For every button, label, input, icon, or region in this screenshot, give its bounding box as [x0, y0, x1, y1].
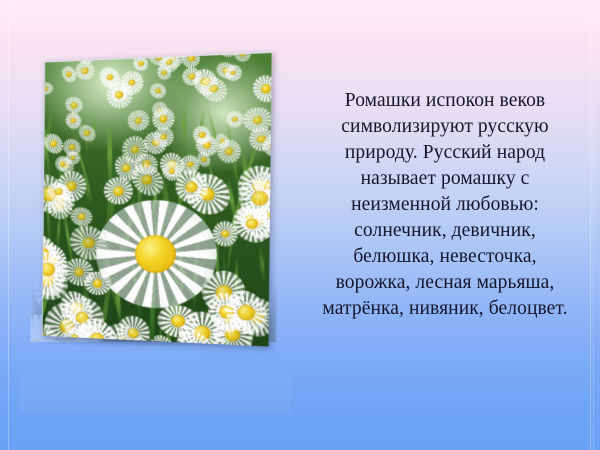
- hero-daisy-core: [135, 235, 176, 274]
- daisy-core: [200, 77, 210, 86]
- daisy-cluster: [45, 53, 271, 62]
- background-streak-right: [590, 0, 591, 450]
- daisy-petals: [258, 131, 272, 162]
- daisy-core: [223, 68, 230, 74]
- daisy-core: [198, 132, 205, 138]
- grass-blade: [223, 182, 248, 252]
- daisy-petals: [213, 305, 242, 334]
- daisy-petals: [226, 198, 272, 250]
- daisy-core: [224, 147, 233, 155]
- daisy-petals: [246, 123, 272, 155]
- daisy-petals: [212, 131, 231, 151]
- daisy-core: [168, 52, 173, 53]
- daisy-core: [224, 52, 231, 53]
- body-text-line: символизируют русскую: [300, 114, 590, 140]
- daisy-core: [166, 59, 173, 66]
- daisy-core: [188, 55, 195, 62]
- daisy-petals: [178, 52, 204, 71]
- grass-blade: [224, 110, 242, 198]
- daisy-core: [232, 116, 238, 121]
- daisy-core: [157, 343, 166, 347]
- daisy-core: [252, 179, 267, 192]
- grass-blade: [241, 145, 250, 199]
- daisy-petals: [159, 158, 186, 186]
- background-streak-right-secondary: [593, 0, 594, 450]
- grass-blade: [235, 255, 239, 307]
- body-text-line: матрёнка, нивяник, белоцвет.: [300, 296, 590, 322]
- daisy-petals: [189, 64, 223, 100]
- daisy-petals: [231, 52, 254, 65]
- daisy-petals: [160, 52, 182, 61]
- daisy-core: [202, 142, 210, 149]
- daisy-core: [263, 181, 272, 189]
- grass-blade: [152, 215, 164, 263]
- grass-blade: [233, 312, 259, 346]
- daisy-core: [85, 54, 90, 59]
- daisy-core: [141, 174, 153, 185]
- daisy-petals: [251, 173, 271, 216]
- daisy-field-photo[interactable]: [42, 52, 272, 347]
- grass-blade: [172, 241, 185, 347]
- grass-blade: [205, 303, 221, 346]
- grass-blade: [181, 262, 197, 304]
- daisy-core: [250, 311, 264, 323]
- daisy-core: [189, 73, 196, 79]
- grass-blade: [166, 233, 179, 288]
- daisy-petals: [232, 201, 266, 234]
- grass-blade: [158, 318, 162, 347]
- body-text-line: природу. Русский народ: [300, 140, 590, 166]
- grass-blade: [152, 170, 160, 222]
- daisy-core: [69, 144, 75, 150]
- daisy-core: [225, 327, 240, 341]
- daisy-core: [252, 191, 268, 205]
- daisy-core: [160, 133, 167, 139]
- daisy-petals: [236, 165, 271, 208]
- daisy-core: [210, 85, 219, 93]
- daisy-petals: [179, 64, 205, 89]
- daisy-core: [267, 210, 272, 220]
- daisy-core: [167, 160, 177, 169]
- grass-blade: [225, 211, 237, 277]
- daisy-core: [159, 115, 168, 123]
- daisy-core: [253, 116, 262, 124]
- daisy-core: [185, 182, 197, 193]
- body-text-line: неизменной любовью:: [300, 192, 590, 218]
- daisy-petals: [233, 194, 272, 246]
- daisy-petals: [155, 52, 184, 77]
- daisy-core: [257, 135, 266, 143]
- daisy-core: [83, 238, 95, 249]
- body-text-line: Ромашки испокон веков: [300, 88, 590, 114]
- daisy-core: [219, 139, 224, 144]
- grass-blade: [192, 111, 198, 201]
- grass-blade: [216, 211, 219, 322]
- daisy-core: [162, 70, 168, 75]
- body-text-line: солнечник, девичник,: [300, 218, 590, 244]
- daisy-core: [71, 335, 79, 343]
- grass-blade: [174, 247, 188, 347]
- daisy-core: [219, 305, 234, 319]
- daisy-core: [201, 157, 207, 162]
- body-text-line: называет ромашку с: [300, 166, 590, 192]
- daisy-petals: [208, 216, 243, 251]
- daisy-petals: [253, 194, 272, 235]
- daisy-petals: [180, 154, 201, 174]
- daisy-core: [223, 316, 231, 324]
- daisy-core: [155, 53, 162, 60]
- grass-blade: [177, 242, 185, 290]
- daisy-core: [155, 88, 161, 93]
- daisy-petals: [222, 62, 244, 83]
- daisy-core: [81, 67, 88, 74]
- daisy-core: [138, 61, 143, 66]
- grass-blade: [182, 100, 186, 149]
- grass-blade: [176, 135, 186, 245]
- grass-blade: [259, 245, 267, 283]
- daisy-core: [246, 218, 259, 229]
- daisy-core: [269, 143, 271, 150]
- daisy-petals: [217, 283, 272, 344]
- daisy-petals: [155, 147, 189, 182]
- daisy-petals: [196, 71, 232, 106]
- daisy-core: [170, 55, 176, 61]
- daisy-petals: [156, 302, 201, 339]
- daisy-petals: [178, 167, 237, 222]
- grass-blade: [192, 237, 199, 312]
- slide-body-text: Ромашки испокон вековсимволизируют русск…: [300, 88, 590, 322]
- daisy-core: [221, 230, 230, 238]
- daisy-core: [157, 107, 162, 112]
- daisy-core: [187, 161, 194, 167]
- daisy-petals: [231, 291, 272, 344]
- grass-blade: [183, 127, 205, 205]
- grass-blade: [161, 286, 180, 339]
- grass-blade: [224, 318, 229, 347]
- daisy-petals: [201, 285, 254, 339]
- daisy-core: [187, 343, 202, 347]
- grass-blade: [172, 142, 181, 190]
- daisy-petals: [212, 135, 245, 168]
- daisy-core: [114, 90, 123, 99]
- body-text-line: ворожка, лесная марьяша,: [300, 270, 590, 296]
- daisy-petals: [250, 167, 272, 203]
- daisy-core: [193, 325, 210, 341]
- presentation-slide: Ромашки испокон вековсимволизируют русск…: [0, 0, 600, 450]
- daisy-petals: [168, 322, 222, 346]
- grass-blade: [159, 166, 174, 234]
- body-text-line: белюшка, невесточка,: [300, 244, 590, 270]
- grass-blade: [165, 302, 172, 346]
- daisy-petals: [214, 60, 239, 82]
- daisy-core: [172, 314, 186, 327]
- grass-blade: [170, 280, 181, 342]
- grass-blade: [225, 177, 237, 224]
- daisy-petals: [191, 131, 221, 161]
- daisy-petals: [248, 70, 272, 107]
- photo-3d-edge: [269, 53, 272, 347]
- daisy-petals: [198, 266, 251, 319]
- daisy-core: [239, 52, 245, 57]
- daisy-core: [113, 186, 124, 196]
- daisy-core: [169, 169, 175, 175]
- daisy-core: [55, 188, 63, 196]
- grass-blade: [183, 143, 209, 239]
- daisy-petals: [174, 306, 229, 347]
- grass-blade: [205, 102, 225, 165]
- daisy-petals: [159, 52, 186, 72]
- daisy-core: [152, 139, 159, 146]
- daisy-petals: [151, 124, 176, 149]
- daisy-core: [237, 305, 254, 321]
- photo-content: [43, 53, 272, 347]
- daisy-core: [261, 84, 271, 93]
- daisy-core: [216, 285, 232, 299]
- picture-stage: [0, 0, 300, 450]
- daisy-petals: [154, 62, 175, 84]
- daisy-core: [78, 213, 85, 220]
- grass-blade: [166, 206, 189, 294]
- daisy-core: [251, 214, 265, 226]
- daisy-petals: [232, 171, 272, 226]
- grass-blade: [233, 121, 266, 216]
- picture-plaque[interactable]: [42, 52, 272, 347]
- daisy-core: [128, 329, 139, 339]
- daisy-petals: [190, 122, 215, 148]
- daisy-petals: [205, 305, 261, 346]
- daisy-petals: [195, 149, 214, 170]
- grass-blade: [202, 142, 223, 204]
- daisy-core: [121, 163, 130, 171]
- daisy-core: [200, 188, 214, 201]
- daisy-petals: [169, 164, 214, 211]
- daisy-petals: [225, 110, 244, 127]
- daisy-core: [245, 214, 253, 221]
- grass-blade: [198, 107, 207, 139]
- daisy-core: [42, 86, 47, 91]
- daisy-core: [90, 332, 104, 346]
- daisy-petals: [216, 52, 239, 60]
- daisy-petals: [243, 107, 272, 132]
- grass-blade: [221, 243, 231, 347]
- daisy-core: [267, 189, 271, 199]
- daisy-core: [230, 70, 236, 75]
